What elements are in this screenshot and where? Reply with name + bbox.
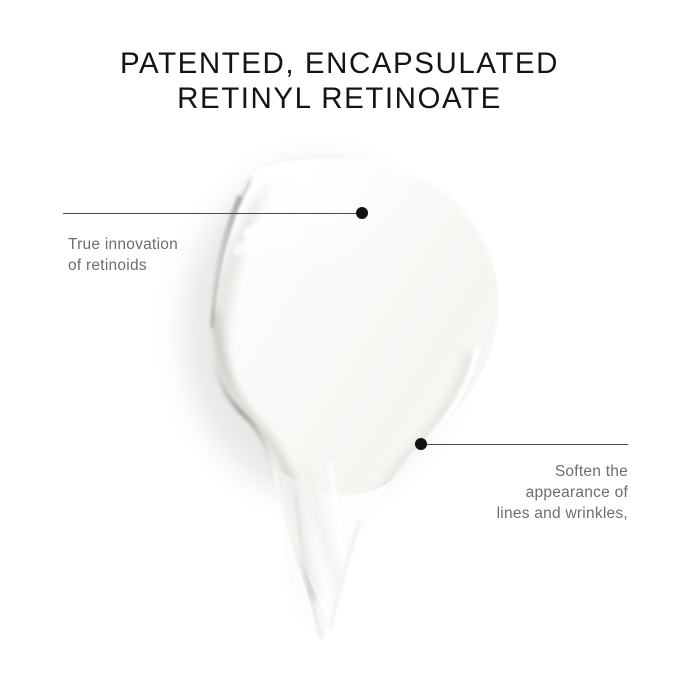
callout-right-leader-line bbox=[421, 444, 628, 445]
image-canvas: PATENTED, ENCAPSULATED RETINYL RETINOATE bbox=[0, 0, 679, 679]
callout-left-leader-line bbox=[63, 213, 362, 214]
callout-left-text: True innovation of retinoids bbox=[68, 234, 288, 276]
cream-swatch-image bbox=[0, 0, 679, 679]
callout-right-dot bbox=[415, 438, 427, 450]
callout-left-dot bbox=[356, 207, 368, 219]
callout-right-text: Soften the appearance of lines and wrink… bbox=[398, 461, 628, 524]
